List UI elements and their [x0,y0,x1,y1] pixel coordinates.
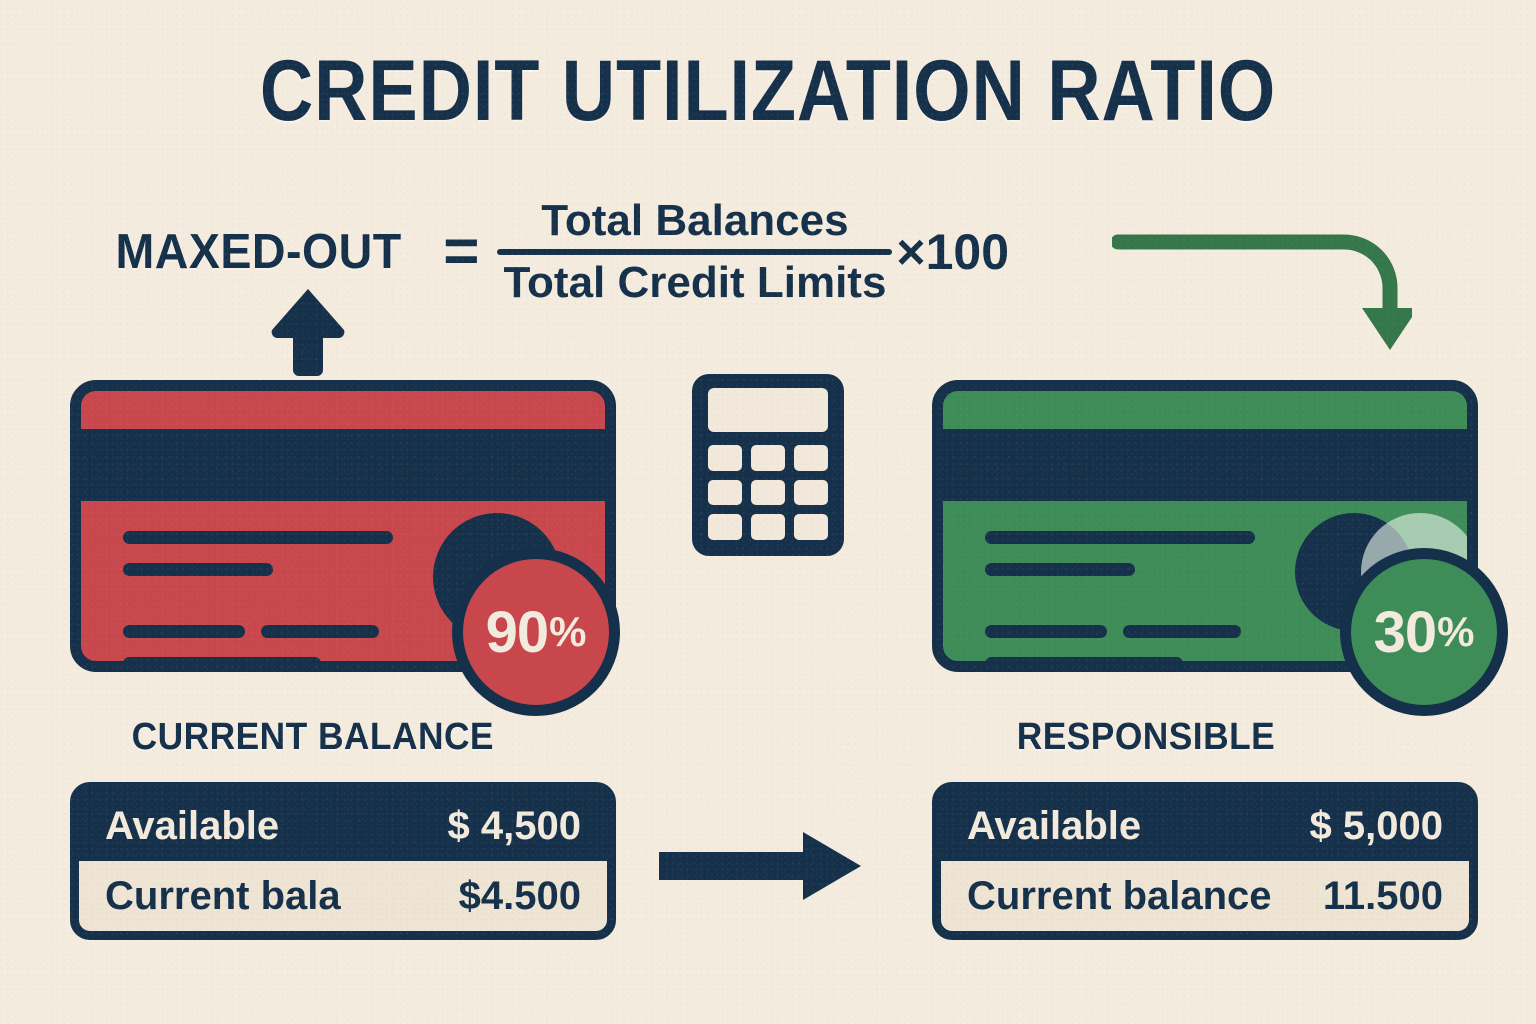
row-value: $ 4,500 [448,804,581,849]
infographic-canvas: CREDIT UTILIZATION RATIO MAXED-OUT = Tot… [0,0,1536,1024]
calculator-key [751,445,785,471]
calculator-key [751,514,785,540]
arrow-up-icon [268,286,348,383]
card-detail-line [261,625,379,638]
card-detail-line [123,657,321,670]
calculator-key [708,445,742,471]
badge-value: 90 [486,599,549,666]
calculator-key [708,514,742,540]
card-magnetic-stripe [81,429,605,501]
card-detail-line [985,625,1107,638]
table-row: Available $ 5,000 [941,791,1469,861]
card-magnetic-stripe [943,429,1467,501]
page-title: CREDIT UTILIZATION RATIO [108,48,1429,134]
calculator-key [708,480,742,506]
row-value: $ 5,000 [1310,804,1443,849]
table-row: Available $ 4,500 [79,791,607,861]
badge-percent-sign: % [1437,608,1474,656]
calculator-key [794,445,828,471]
balance-panel-right: Available $ 5,000 Current balance 11.500 [932,782,1478,940]
equals-sign: = [443,227,479,277]
formula-block: MAXED-OUT = Total Balances Total Credit … [108,196,1009,308]
row-label: Available [105,804,279,849]
utilization-badge-30: 30 % [1340,548,1508,716]
arrow-right-icon [655,830,865,907]
fraction-denominator: Total Credit Limits [497,255,892,308]
row-label: Current balance [967,874,1272,919]
row-label: Available [967,804,1141,849]
calculator-key [794,480,828,506]
badge-percent-sign: % [549,608,586,656]
fraction-numerator: Total Balances [535,196,854,249]
left-section-label: CURRENT BALANCE [132,716,494,759]
right-section-label: RESPONSIBLE [1017,716,1275,759]
row-label: Current bala [105,874,341,919]
utilization-badge-90: 90 % [452,548,620,716]
card-detail-line [123,531,393,544]
calculator-icon [692,374,844,556]
calculator-keypad [708,445,828,540]
curved-arrow-right-down-icon [1112,228,1412,363]
row-value: 11.500 [1323,874,1443,919]
card-detail-line [985,563,1135,576]
balance-panel-left: Available $ 4,500 Current bala $4.500 [70,782,616,940]
row-value: $4.500 [459,874,581,919]
maxed-out-label: MAXED-OUT [116,224,402,280]
calculator-key [794,514,828,540]
ratio-fraction: Total Balances Total Credit Limits [497,196,892,308]
card-detail-line [985,531,1255,544]
multiplier-label: ×100 [896,223,1009,281]
card-detail-line [123,563,273,576]
card-detail-line [1123,625,1241,638]
calculator-key [751,480,785,506]
badge-value: 30 [1374,599,1437,666]
table-row: Current balance 11.500 [941,861,1469,931]
card-detail-line [123,625,245,638]
table-row: Current bala $4.500 [79,861,607,931]
calculator-display [708,388,828,432]
card-detail-line [985,657,1183,670]
